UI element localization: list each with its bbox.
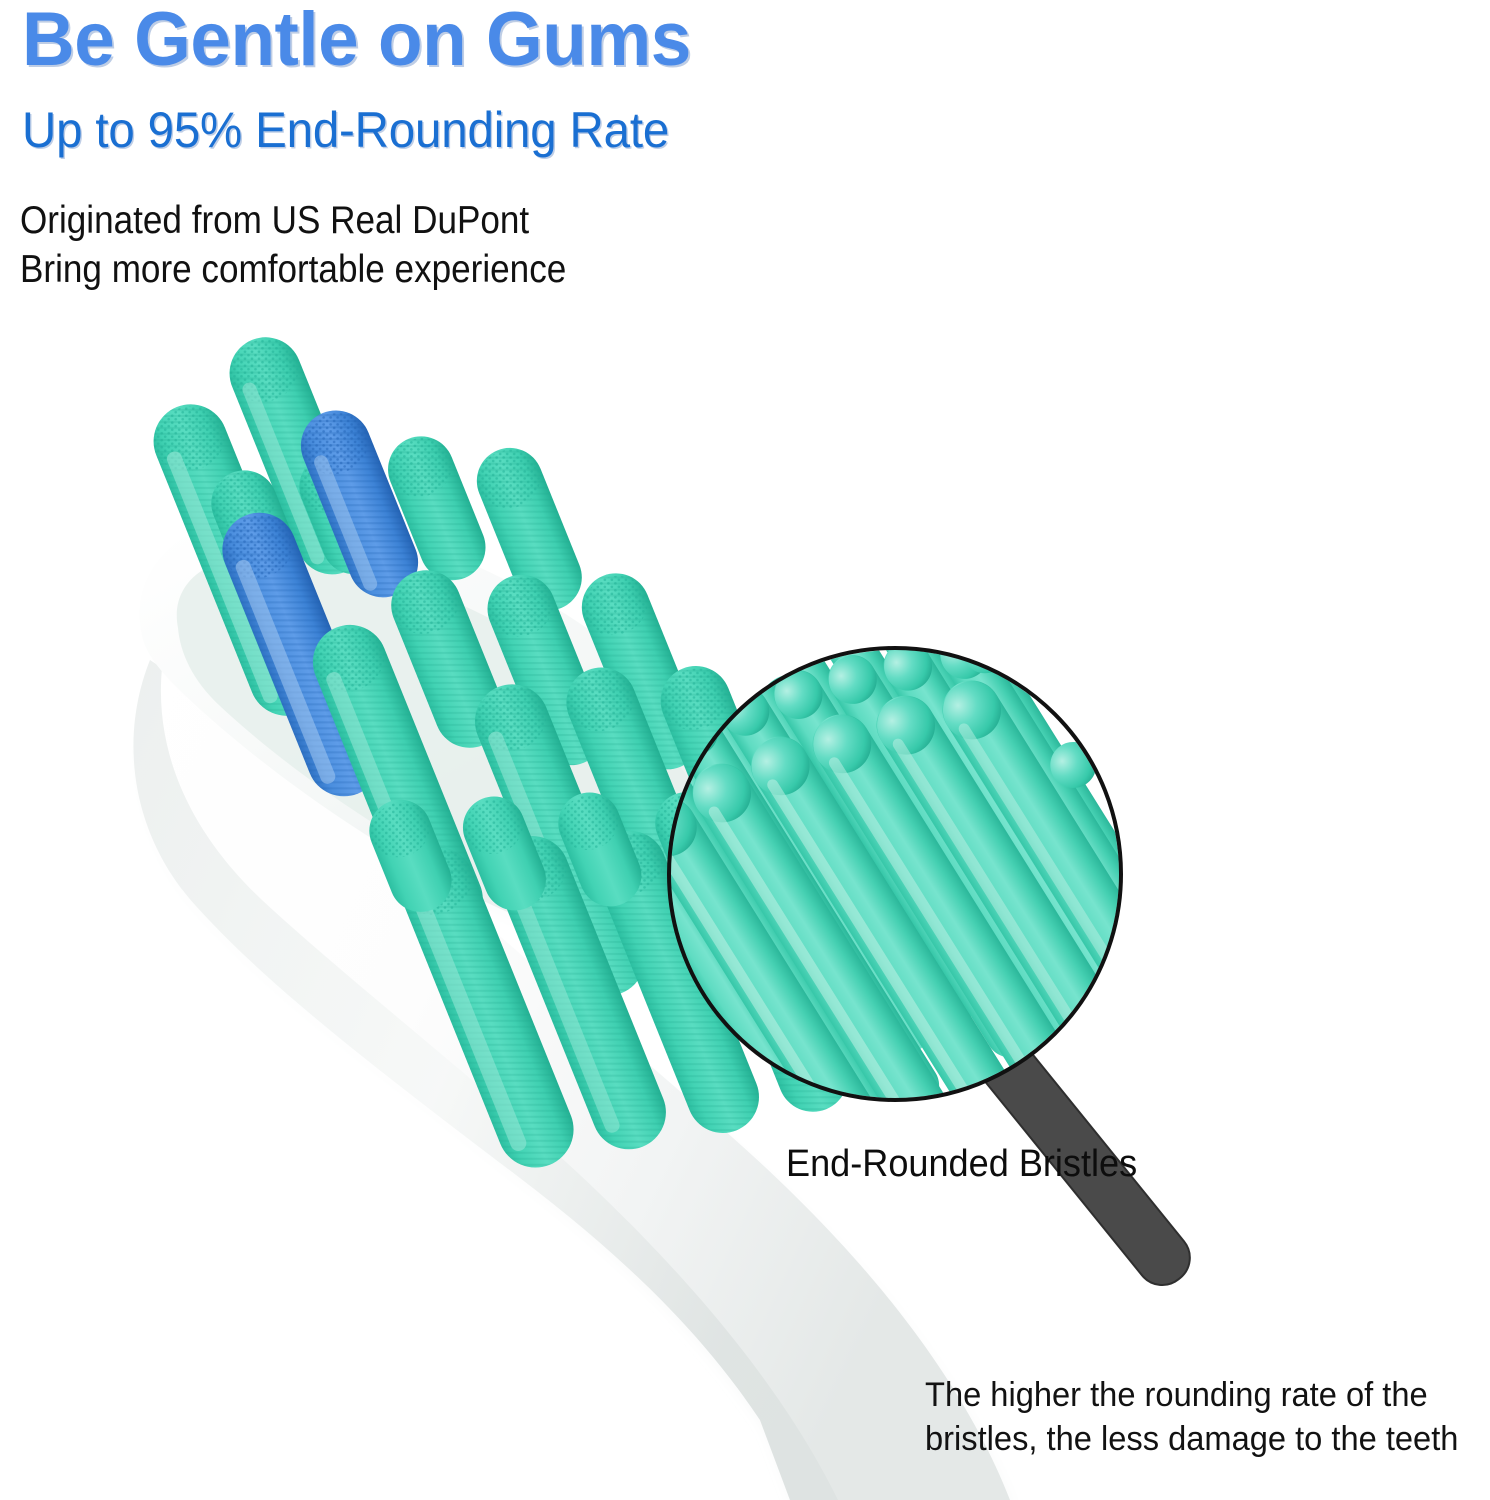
magnifier-caption: End-Rounded Bristles (786, 1143, 1137, 1186)
description-line-1: Originated from US Real DuPont (20, 196, 566, 245)
footnote-line-2: bristles, the less damage to the teeth (925, 1417, 1458, 1461)
page-subtitle: Up to 95% End-Rounding Rate (22, 105, 669, 155)
product-description: Originated from US Real DuPont Bring mor… (20, 196, 566, 294)
page-title: Be Gentle on Gums (22, 2, 691, 78)
footnote: The higher the rounding rate of the bris… (925, 1373, 1458, 1461)
description-line-2: Bring more comfortable experience (20, 245, 566, 294)
footnote-line-1: The higher the rounding rate of the (925, 1373, 1458, 1417)
product-marketing-image: Be Gentle on Gums Up to 95% End-Rounding… (0, 0, 1490, 1500)
